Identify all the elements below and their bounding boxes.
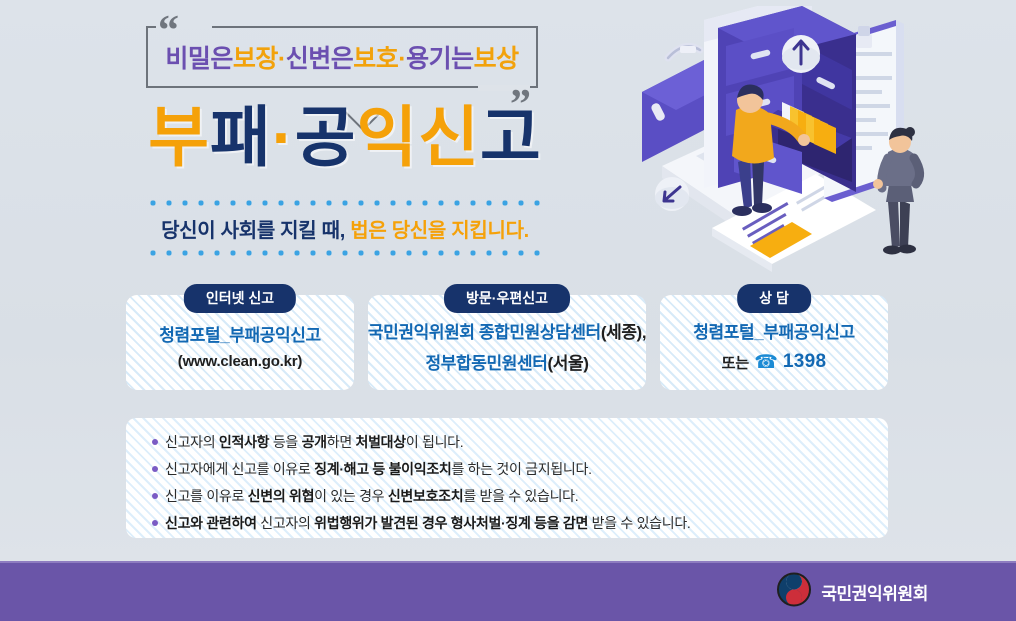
subtitle-block: 당신이 사회를 지킬 때, 법은 당신을 지킵니다. <box>150 200 540 256</box>
title-char-1: 패 <box>210 100 272 174</box>
note-bullet-icon <box>152 466 158 472</box>
card-internet-title: 청렴포털_부패공익신고 <box>159 321 320 346</box>
bubble-segment-2: 신변은 <box>286 39 354 75</box>
card-internet-badge: 인터넷 신고 <box>184 284 296 313</box>
card-visit-center-seoul-paren: (서울) <box>547 354 588 373</box>
title-char-2: · <box>272 100 295 174</box>
card-visit-center-seoul-main: 정부합동민원센터 <box>426 354 548 373</box>
card-consult-title: 청렴포털_부패공익신고 <box>693 318 854 343</box>
bubble-segment-5: 보상 <box>474 39 519 75</box>
note-bullet-icon <box>152 439 158 445</box>
card-visit-badge: 방문·우편신고 <box>444 284 570 313</box>
isometric-illustration <box>626 6 1016 282</box>
dotted-rule-bottom <box>150 250 540 256</box>
speech-bubble: “ ” 비밀은 보장·신변은 보호·용기는 보상 <box>146 26 538 88</box>
bubble-slogan: 비밀은 보장·신변은 보호·용기는 보상 <box>146 26 538 88</box>
title-char-6: 고 <box>480 100 542 174</box>
note-item: 신고자에게 신고를 이유로 징계·해고 등 불이익조치를 하는 것이 금지됩니다… <box>152 459 888 479</box>
footer-brand: 국민권익위원회 <box>777 573 928 612</box>
phone-icon: ☎ <box>754 353 778 372</box>
title-char-4: 익 <box>356 100 418 174</box>
title-char-3: 공 <box>295 100 357 174</box>
card-internet-report[interactable]: 인터넷 신고 청렴포털_부패공익신고 (www.clean.go.kr) <box>126 295 354 390</box>
card-visit-center-sejong: 국민권익위원회 종합민원상담센터(세종), <box>368 318 646 343</box>
note-item: 신고와 관련하여 신고자의 위법행위가 발견된 경우 형사처벌·징계 등을 감면… <box>152 513 888 533</box>
card-internet-url[interactable]: (www.clean.go.kr) <box>178 353 302 370</box>
footer-organization-name: 국민권익위원회 <box>821 580 928 605</box>
poster-root: “ ” 비밀은 보장·신변은 보호·용기는 보상 부패·공익신고 당신이 사회를… <box>0 0 1016 621</box>
card-consult-badge: 상 담 <box>737 284 811 313</box>
card-consult-or-label: 또는 <box>722 352 750 373</box>
card-visit-mail-report[interactable]: 방문·우편신고 국민권익위원회 종합민원상담센터(세종), 정부합동민원센터(서… <box>368 295 646 390</box>
card-visit-center-sejong-main: 국민권익위원회 종합민원상담센터 <box>368 323 601 342</box>
note-bullet-icon <box>152 520 158 526</box>
protection-notes-panel: 신고자의 인적사항 등을 공개하면 처벌대상이 됩니다.신고자에게 신고를 이유… <box>126 418 888 538</box>
bubble-segment-0: 비밀은 <box>165 39 233 75</box>
note-text-3: 신고와 관련하여 신고자의 위법행위가 발견된 경우 형사처벌·징계 등을 감면… <box>165 513 691 533</box>
bubble-segment-4: 용기는 <box>406 39 474 75</box>
card-visit-center-seoul: 정부합동민원센터(서울) <box>426 349 589 374</box>
subtitle-text: 당신이 사회를 지킬 때, 법은 당신을 지킵니다. <box>150 206 540 250</box>
taegeuk-logo-icon <box>777 573 811 612</box>
footer-bar: 국민권익위원회 <box>0 561 1016 621</box>
bubble-segment-3: 보호· <box>353 39 406 75</box>
note-item: 신고자의 인적사항 등을 공개하면 처벌대상이 됩니다. <box>152 432 888 452</box>
note-text-0: 신고자의 인적사항 등을 공개하면 처벌대상이 됩니다. <box>165 432 463 452</box>
title-char-0: 부 <box>148 100 210 174</box>
card-consult-phone-row: 또는 ☎ 1398 <box>722 351 827 373</box>
note-bullet-icon <box>152 493 158 499</box>
page-title: 부패·공익신고 <box>0 104 690 170</box>
card-consultation[interactable]: 상 담 청렴포털_부패공익신고 또는 ☎ 1398 <box>660 295 888 390</box>
note-text-2: 신고를 이유로 신변의 위협이 있는 경우 신변보호조치를 받을 수 있습니다. <box>165 486 578 506</box>
note-text-1: 신고자에게 신고를 이유로 징계·해고 등 불이익조치를 하는 것이 금지됩니다… <box>165 459 592 479</box>
subtitle-navy-part: 당신이 사회를 지킬 때, <box>161 220 350 242</box>
card-visit-center-sejong-paren: (세종), <box>601 323 646 342</box>
card-consult-phone-number[interactable]: 1398 <box>783 351 826 373</box>
subtitle-orange-part: 법은 당신을 지킵니다. <box>350 220 529 242</box>
note-item: 신고를 이유로 신변의 위협이 있는 경우 신변보호조치를 받을 수 있습니다. <box>152 486 888 506</box>
title-char-5: 신 <box>418 100 480 174</box>
bubble-segment-1: 보장· <box>233 39 286 75</box>
